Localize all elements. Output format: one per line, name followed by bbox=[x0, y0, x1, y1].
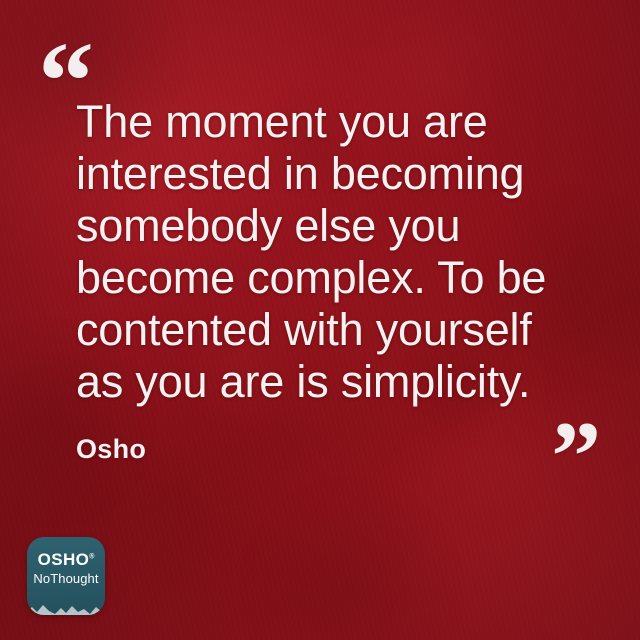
quote-text: The moment you are interested in becomin… bbox=[76, 96, 616, 408]
quote-attribution: Osho bbox=[76, 434, 146, 465]
quote-line: as you are is simplicity. bbox=[76, 356, 616, 408]
osho-quote-card: “ The moment you are interested in becom… bbox=[0, 0, 640, 640]
mountain-range-icon bbox=[27, 598, 105, 615]
quote-line: The moment you are bbox=[76, 96, 616, 148]
card-content: “ The moment you are interested in becom… bbox=[0, 0, 640, 640]
registered-trademark-icon: ® bbox=[89, 553, 94, 560]
quote-line: contented with yourself bbox=[76, 304, 616, 356]
logo-subwordmark: NoThought bbox=[27, 571, 105, 586]
quote-line: become complex. To be bbox=[76, 252, 616, 304]
logo-wordmark-text: OSHO bbox=[38, 550, 90, 569]
quote-line: somebody else you bbox=[76, 200, 616, 252]
quote-line: interested in becoming bbox=[76, 148, 616, 200]
osho-nothought-logo[interactable]: OSHO® NoThought bbox=[27, 537, 105, 615]
logo-wordmark: OSHO® bbox=[27, 550, 105, 570]
closing-quotation-mark-icon: „ bbox=[552, 355, 601, 455]
